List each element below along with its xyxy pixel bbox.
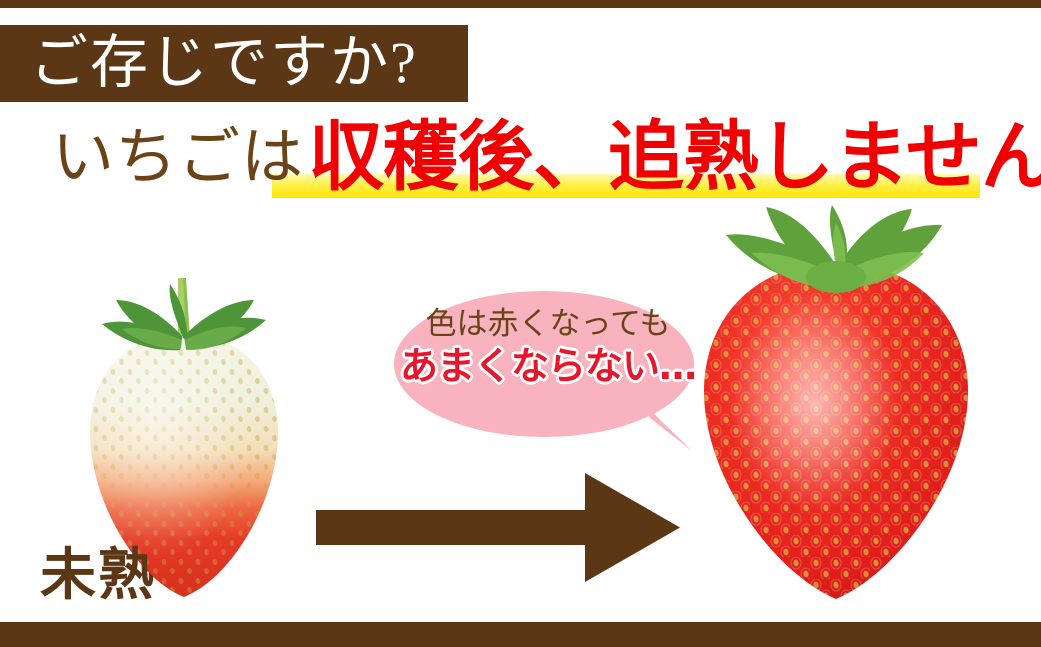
right-arrow-icon	[310, 470, 686, 585]
headline-text: いちごは 収穫後、追熟しません！	[52, 112, 1032, 204]
ripe-strawberry-image	[690, 205, 980, 605]
promo-banner: ご存じですか? いちごは 収穫後、追熟しません！	[0, 0, 1041, 647]
transition-arrow	[310, 470, 686, 585]
headline: いちごは 収穫後、追熟しません！	[0, 112, 1041, 204]
eyebrow-label: ご存じですか?	[30, 33, 418, 91]
bottom-rule	[0, 622, 1041, 647]
top-rule	[0, 0, 1041, 8]
speech-bubble: 色は赤くなっても あまくならない…	[392, 288, 704, 453]
speech-bubble-text: 色は赤くなっても あまくならない…	[392, 308, 704, 385]
ripe-strawberry-icon	[690, 205, 980, 605]
unripe-caption: 未熟	[40, 548, 156, 604]
headline-emphasis: 収穫後、追熟しません！	[308, 120, 1041, 196]
bubble-line-2: あまくならない…	[392, 347, 704, 385]
headline-lead: いちごは	[52, 127, 304, 189]
eyebrow-box: ご存じですか?	[0, 25, 468, 102]
bubble-line-1: 色は赤くなっても	[392, 308, 704, 339]
